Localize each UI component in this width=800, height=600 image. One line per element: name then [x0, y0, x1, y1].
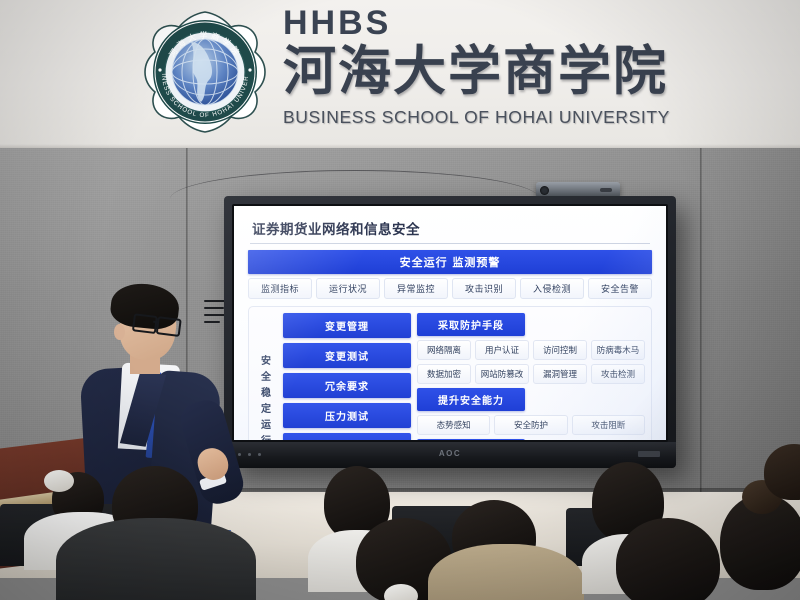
group-row: 网络隔离 用户认证 访问控制 防病毒木马 [417, 340, 645, 360]
hohai-business-school-emblem-icon: 河海大学商学院 BUSINESS SCHOOL OF HOHAI UNIVERS… [142, 8, 268, 136]
signage-text-block: HHBS 河海大学商学院 BUSINESS SCHOOL OF HOHAI UN… [283, 6, 753, 128]
group-row: 数据加密 网站防篡改 漏洞管理 攻击检测 [417, 364, 645, 384]
sub-item: 数据加密 [417, 364, 471, 384]
right-groups-column: 采取防护手段 网络隔离 用户认证 访问控制 防病毒木马 数据加密 网站防篡改 漏… [417, 313, 645, 440]
group-heading: 采取防护手段 [417, 313, 525, 336]
display-screen[interactable]: 证券期货业网络和信息安全 安全运行 监测预警 监测指标 运行状况 异常监控 攻击… [234, 206, 666, 440]
audience-head [616, 518, 720, 600]
group-heading: 提升安全能力 [417, 388, 525, 411]
school-name-english: BUSINESS SCHOOL OF HOHAI UNIVERSITY [283, 107, 753, 128]
top-chip: 运行状况 [316, 278, 380, 299]
top-band-label: 安全运行 监测预警 [248, 250, 652, 274]
audience-shoulders [56, 518, 256, 600]
measure-box: 变更测试 [283, 343, 411, 368]
top-band-chip-row: 监测指标 运行状况 异常监控 攻击识别 入侵检测 安全告警 [248, 278, 652, 299]
presentation-slide: 证券期货业网络和信息安全 安全运行 监测预警 监测指标 运行状况 异常监控 攻击… [234, 206, 666, 440]
sub-item: 攻击检测 [591, 364, 645, 384]
vertical-section-label: 安 全 稳 定 运 行 [255, 313, 277, 440]
measure-box: 变更管理 [283, 313, 411, 338]
sub-item: 网站防篡改 [475, 364, 529, 384]
title-divider [250, 243, 650, 244]
sub-item: 用户认证 [475, 340, 529, 360]
sub-item: 访问控制 [533, 340, 587, 360]
display-bezel: 证券期货业网络和信息安全 安全运行 监测预警 监测指标 运行状况 异常监控 攻击… [232, 204, 668, 442]
vlabel-char: 运 [261, 416, 271, 431]
vlabel-char: 安 [261, 352, 271, 367]
measure-box: 冗余要求 [283, 373, 411, 398]
sub-item: 防病毒木马 [591, 340, 645, 360]
top-chip: 入侵检测 [520, 278, 584, 299]
lecture-hall-photo: 河海大学商学院 BUSINESS SCHOOL OF HOHAI UNIVERS… [0, 0, 800, 600]
vlabel-char: 全 [261, 368, 271, 383]
slide-body-card: 安 全 稳 定 运 行 变更管理 变更测试 冗余要求 压力测试 数 [248, 306, 652, 440]
sub-item: 网络隔离 [417, 340, 471, 360]
top-chip: 异常监控 [384, 278, 448, 299]
vlabel-char: 稳 [261, 384, 271, 399]
hair-scrunchie [44, 470, 74, 492]
audience-area [0, 430, 800, 600]
left-measures-column: 变更管理 变更测试 冗余要求 压力测试 数据备份 [283, 313, 411, 440]
measure-box: 压力测试 [283, 403, 411, 428]
audience-shoulders [428, 544, 584, 600]
school-abbreviation: HHBS [283, 6, 753, 40]
vlabel-char: 定 [261, 400, 271, 415]
interactive-flat-panel-display[interactable]: 证券期货业网络和信息安全 安全运行 监测预警 监测指标 运行状况 异常监控 攻击… [224, 196, 676, 468]
slide-title: 证券期货业网络和信息安全 [248, 218, 652, 238]
school-name-chinese: 河海大学商学院 [283, 44, 753, 100]
sub-item: 漏洞管理 [533, 364, 587, 384]
top-chip: 攻击识别 [452, 278, 516, 299]
presenter-ear [114, 324, 125, 340]
top-chip: 监测指标 [248, 278, 312, 299]
top-chip: 安全告警 [588, 278, 652, 299]
